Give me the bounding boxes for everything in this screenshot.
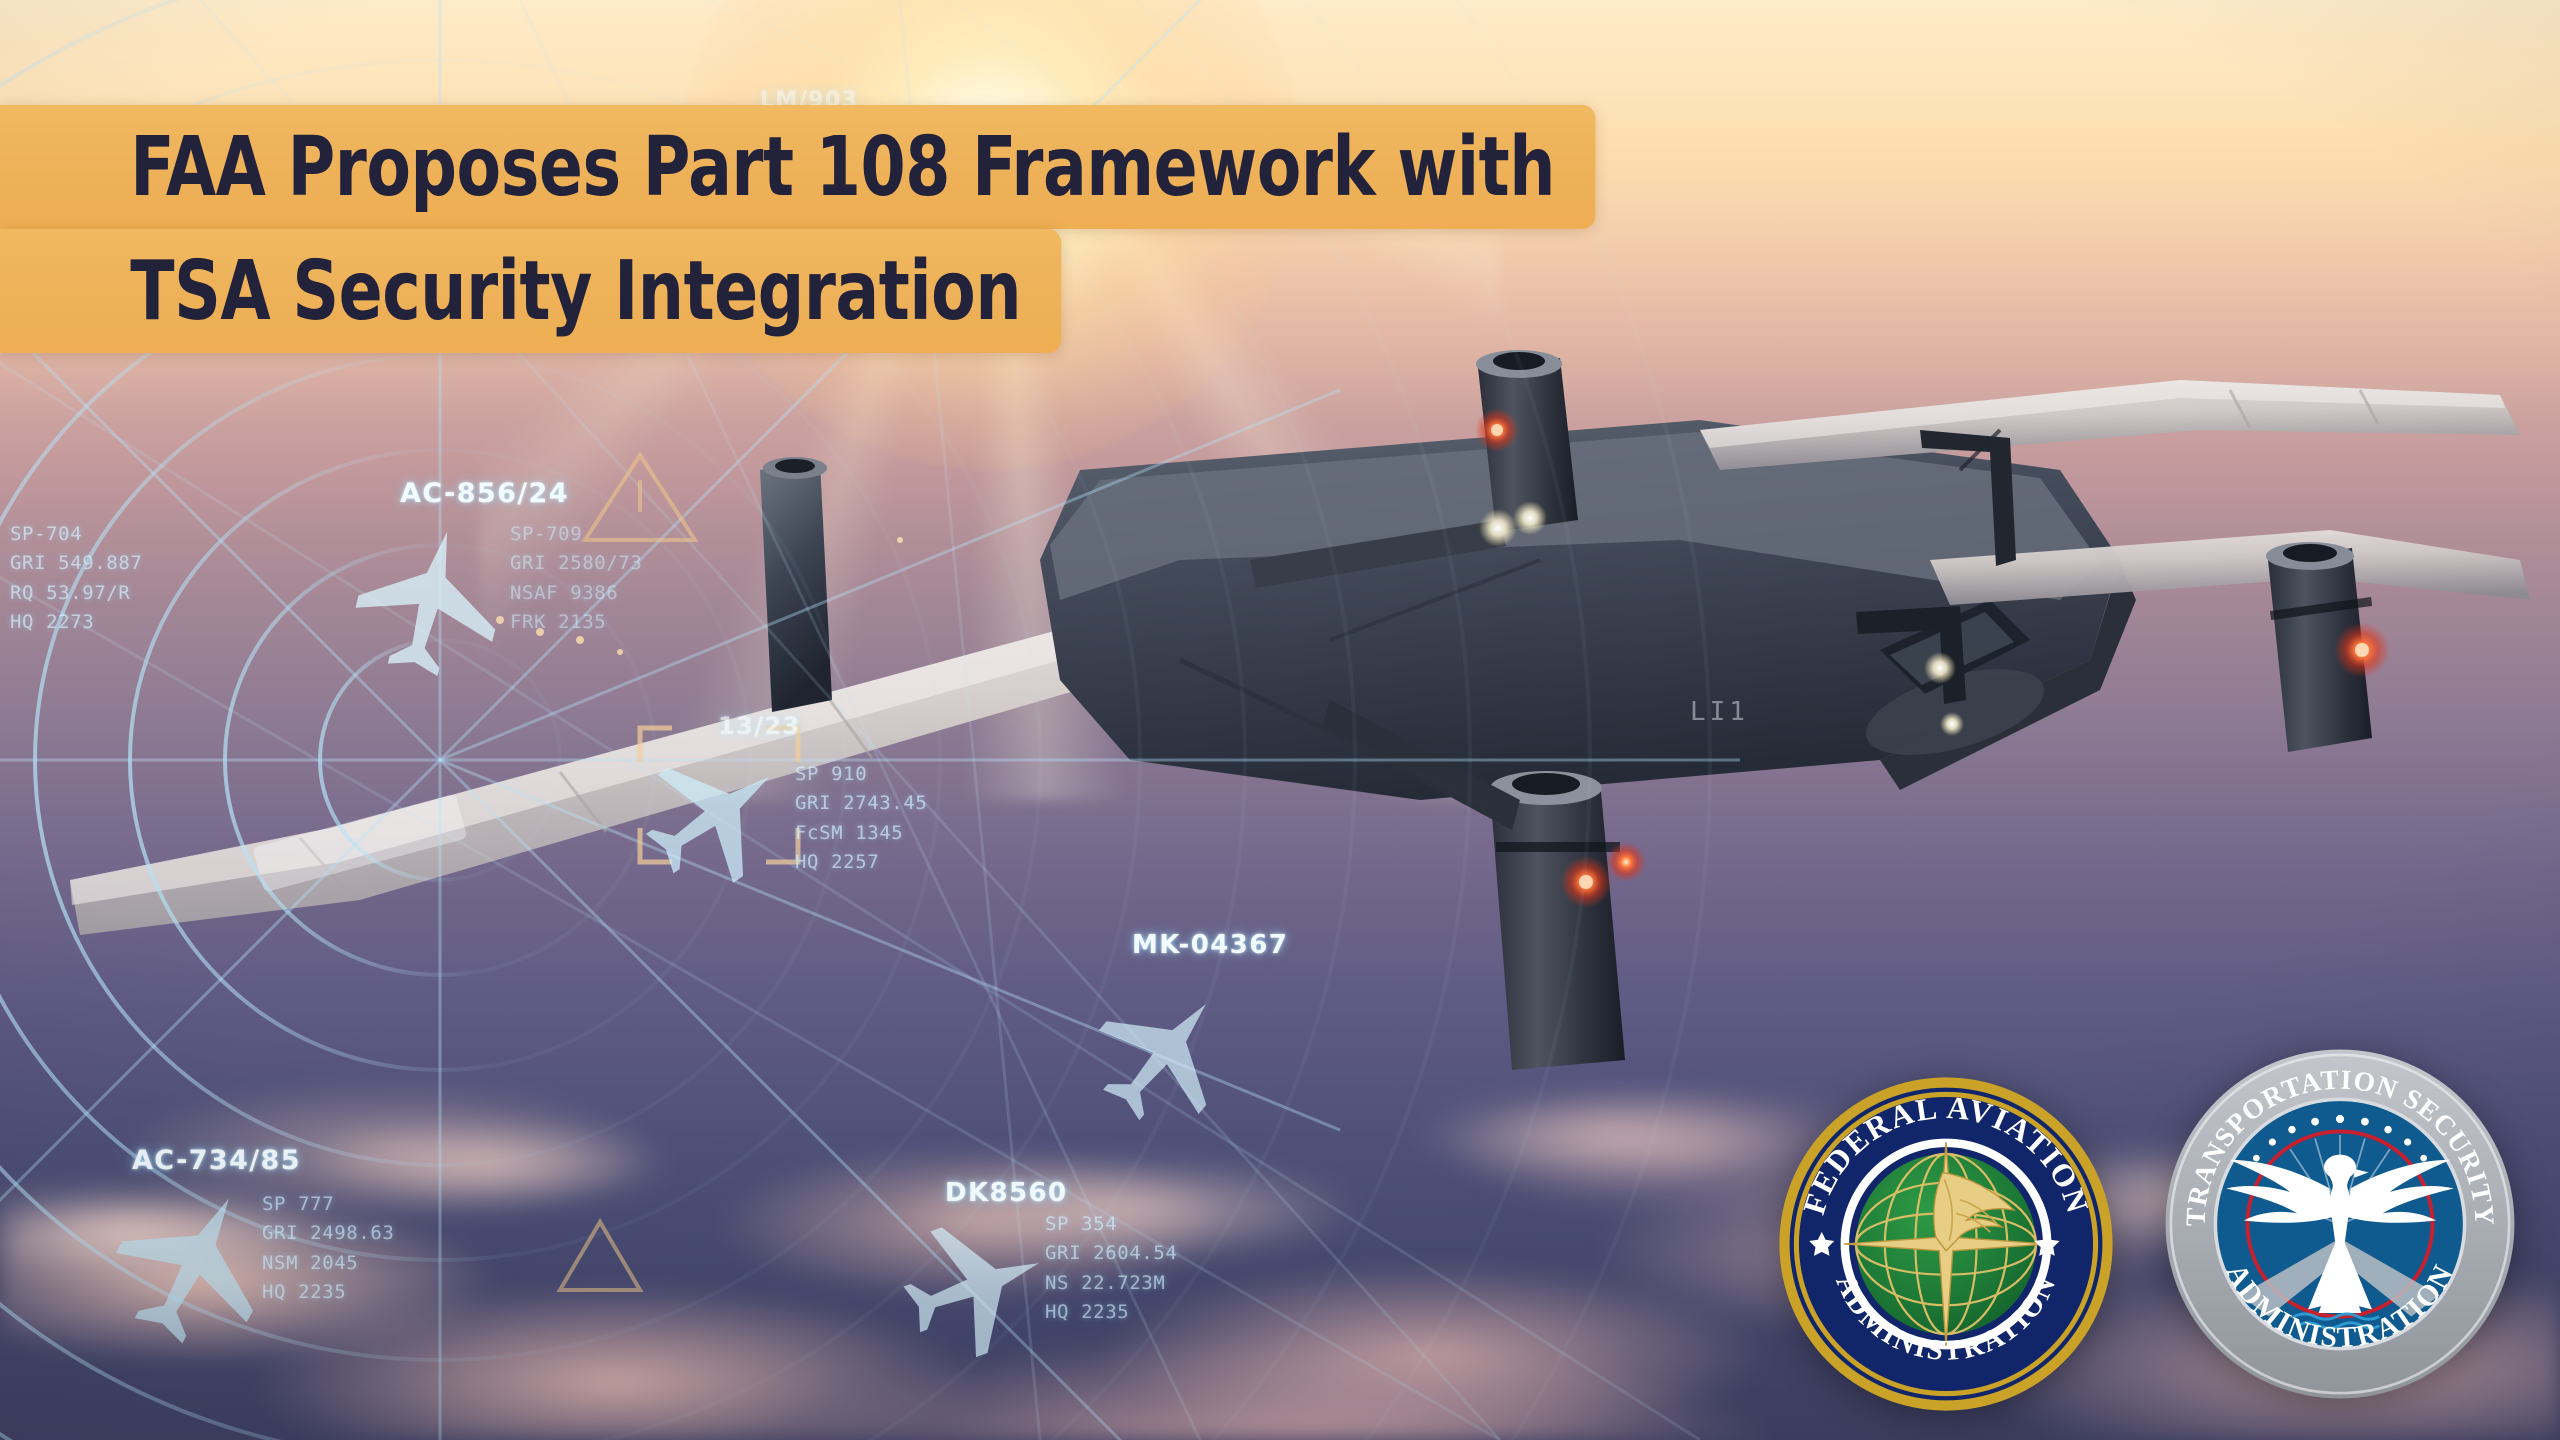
faa-seal: FEDERAL AVIATION ADMINISTRATION [1776,1074,2116,1414]
headline-banner: FAA Proposes Part 108 Framework with TSA… [0,105,1813,353]
svg-text:LI1: LI1 [1690,697,1749,727]
agency-seals: FEDERAL AVIATION ADMINISTRATION [1776,1046,2518,1414]
hero-banner-image: LI1 [0,0,2560,1440]
headline-line-2: TSA Security Integration [0,229,1062,353]
headline-line-1: FAA Proposes Part 108 Framework with [0,105,1596,229]
tsa-seal: TRANSPORTATION SECURITY ADMINISTRATION [2162,1046,2518,1402]
